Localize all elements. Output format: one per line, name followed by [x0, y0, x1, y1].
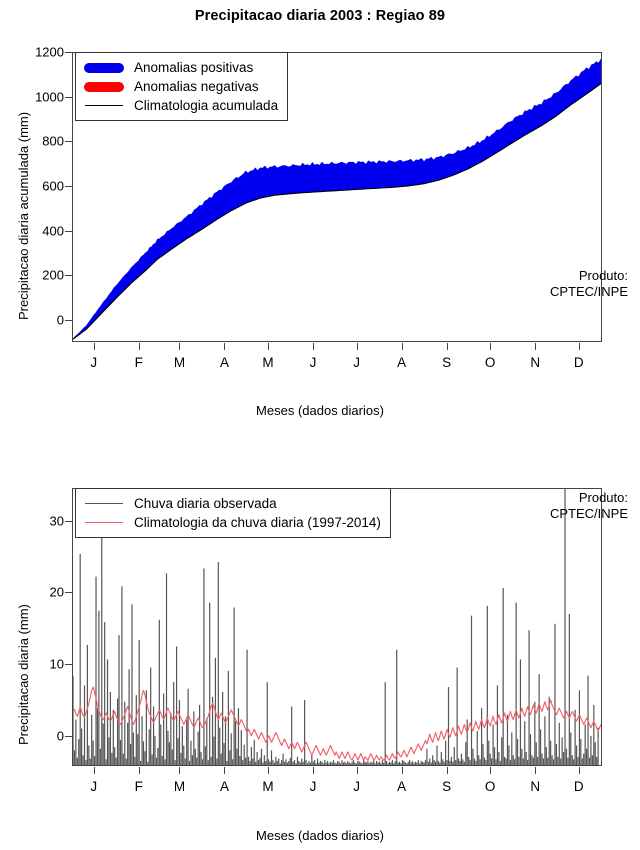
x-tick-label: A [397, 355, 406, 370]
x-tick-label: J [353, 779, 360, 794]
y-tick-label: 30 [50, 514, 64, 527]
blue-band-icon [83, 61, 125, 75]
x-tick-mark [579, 343, 580, 350]
x-tick-mark [535, 343, 536, 350]
legend-item-anomalias-positivas[interactable]: Anomalias positivas [83, 58, 278, 77]
x-tick-label: F [135, 779, 143, 794]
top-y-tick-labels: 1200 1000 800 600 400 200 0 [24, 52, 64, 342]
x-tick-label: F [135, 355, 143, 370]
precipitation-report-page: Precipitacao diaria 2003 : Regiao 89 Pre… [0, 0, 640, 850]
x-tick-mark [224, 767, 225, 774]
bottom-y-tick-marks [65, 488, 72, 766]
y-tick-label: 20 [50, 586, 64, 599]
red-band-icon [83, 80, 125, 94]
red-line-icon [83, 516, 125, 530]
bottom-y-tick-labels: 30 20 10 0 [24, 488, 64, 766]
top-chart-legend: Anomalias positivas Anomalias negativas … [75, 52, 288, 121]
x-tick-label: N [530, 779, 540, 794]
legend-item-anomalias-negativas[interactable]: Anomalias negativas [83, 77, 278, 96]
x-tick-label: J [90, 779, 97, 794]
x-tick-label: J [310, 355, 317, 370]
x-tick-label: A [220, 779, 229, 794]
x-tick-mark [139, 767, 140, 774]
bottom-produto-annotation: Produto:CPTEC/INPE [550, 490, 628, 522]
x-tick-label: A [397, 779, 406, 794]
y-tick-label: 600 [42, 179, 64, 192]
x-tick-mark [268, 767, 269, 774]
x-tick-mark [179, 343, 180, 350]
x-tick-mark [94, 343, 95, 350]
x-tick-mark [535, 767, 536, 774]
x-tick-label: S [442, 779, 451, 794]
y-tick-label: 400 [42, 224, 64, 237]
x-tick-mark [447, 343, 448, 350]
y-tick-label: 200 [42, 269, 64, 282]
y-tick-label: 10 [50, 658, 64, 671]
x-tick-label: S [442, 355, 451, 370]
x-tick-mark [313, 767, 314, 774]
top-x-tick-marks [72, 343, 602, 351]
x-tick-label: D [574, 355, 584, 370]
x-tick-label: M [262, 779, 273, 794]
x-tick-label: M [174, 779, 185, 794]
daily-precipitation-panel: Precipitacao diaria (mm) 30 20 10 0 Chuv… [0, 440, 640, 850]
top-y-tick-marks [65, 52, 72, 342]
x-tick-label: O [485, 355, 496, 370]
x-tick-mark [402, 343, 403, 350]
page-title: Precipitacao diaria 2003 : Regiao 89 [0, 8, 640, 24]
bottom-chart-legend: Chuva diaria observada Climatologia da c… [75, 488, 391, 538]
x-tick-mark [179, 767, 180, 774]
x-tick-label: M [174, 355, 185, 370]
x-tick-label: J [353, 355, 360, 370]
x-tick-label: J [310, 779, 317, 794]
x-tick-mark [357, 767, 358, 774]
x-tick-label: N [530, 355, 540, 370]
legend-label: Chuva diaria observada [134, 496, 277, 511]
gray-line-icon [83, 497, 125, 511]
top-produto-annotation: Produto:CPTEC/INPE [550, 268, 628, 300]
legend-item-chuva-observada[interactable]: Chuva diaria observada [83, 494, 381, 513]
y-tick-label: 0 [57, 313, 64, 326]
x-tick-mark [224, 343, 225, 350]
produto-line-2: CPTEC/INPE [550, 506, 628, 521]
x-tick-mark [402, 767, 403, 774]
x-tick-mark [94, 767, 95, 774]
x-tick-mark [268, 343, 269, 350]
black-line-icon [83, 99, 125, 113]
top-x-axis-title: Meses (dados diarios) [0, 403, 640, 418]
x-tick-label: O [485, 779, 496, 794]
accumulated-precipitation-panel: Precipitacao diaria 2003 : Regiao 89 Pre… [0, 0, 640, 440]
produto-line-1: Produto: [579, 268, 628, 283]
x-tick-label: D [574, 779, 584, 794]
x-tick-mark [313, 343, 314, 350]
y-tick-label: 800 [42, 135, 64, 148]
x-tick-label: A [220, 355, 229, 370]
x-tick-label: M [262, 355, 273, 370]
legend-label: Anomalias negativas [134, 79, 259, 94]
y-tick-label: 1000 [35, 90, 64, 103]
legend-item-climatologia-acumulada[interactable]: Climatologia acumulada [83, 96, 278, 115]
legend-item-climatologia-diaria[interactable]: Climatologia da chuva diaria (1997-2014) [83, 513, 381, 532]
x-tick-mark [490, 343, 491, 350]
bottom-x-axis-title: Meses (dados diarios) [0, 828, 640, 843]
top-x-tick-labels: JFMAMJJASOND [72, 355, 602, 375]
x-tick-mark [579, 767, 580, 774]
legend-label: Anomalias positivas [134, 60, 253, 75]
produto-line-2: CPTEC/INPE [550, 284, 628, 299]
y-tick-label: 1200 [35, 46, 64, 59]
y-tick-label: 0 [57, 729, 64, 742]
legend-label: Climatologia da chuva diaria (1997-2014) [134, 515, 381, 530]
x-tick-mark [490, 767, 491, 774]
x-tick-mark [447, 767, 448, 774]
bottom-x-tick-marks [72, 767, 602, 775]
produto-line-1: Produto: [579, 490, 628, 505]
x-tick-mark [357, 343, 358, 350]
x-tick-label: J [90, 355, 97, 370]
legend-label: Climatologia acumulada [134, 98, 278, 113]
x-tick-mark [139, 343, 140, 350]
bottom-x-tick-labels: JFMAMJJASOND [72, 779, 602, 799]
